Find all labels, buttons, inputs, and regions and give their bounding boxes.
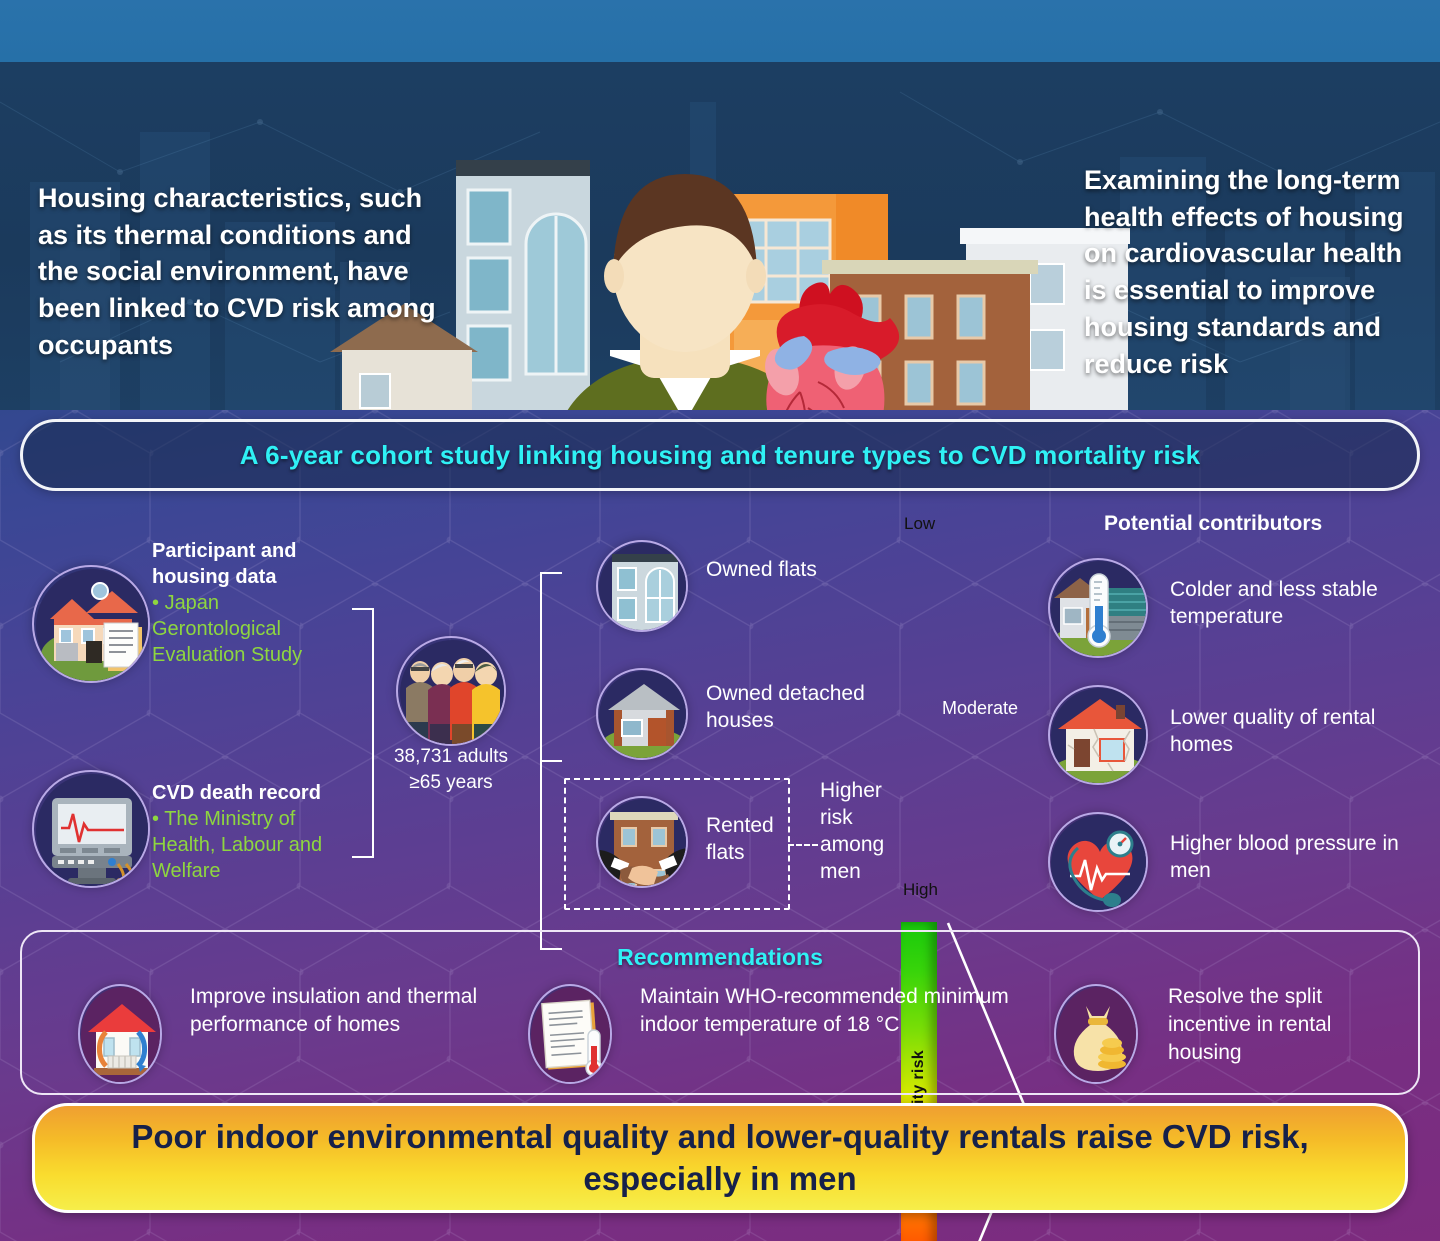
recommendation-label: Maintain WHO-recommended minimum indoor … [640,983,1010,1039]
cracked-house-icon [1048,685,1148,785]
contributor-label: Lower quality of rental homes [1170,704,1430,759]
housing-type-label: Owned flats [706,556,886,583]
housing-type-label: Owned detached houses [706,680,906,735]
highlight-connector [788,844,818,846]
ecg-monitor-icon [32,770,150,888]
contributor-label: Higher blood pressure in men [1170,830,1430,885]
key-message-text: Poor indoor environmental quality and lo… [35,1116,1405,1200]
housing-and-heart-illustration [330,124,1130,410]
infographic-page: Housing characteristics, such as its the… [0,0,1440,1241]
left-apartment-icon [456,160,590,410]
higher-risk-label: Higher risk among men [820,778,892,886]
source-item: The Ministry of Health, Labour and Welfa… [152,806,352,884]
source-block-cvd-death: CVD death record The Ministry of Health,… [152,780,352,884]
bracket-tick-mid [540,760,562,762]
source-heading: Participant and housing data [152,538,342,590]
contributor-label: Colder and less stable temperature [1170,576,1430,631]
house-thermometer-icon [1048,558,1148,658]
rented-flats-highlight-box [564,778,790,910]
document-thermometer-icon [528,984,612,1084]
source-bracket [352,608,374,858]
house-with-document-icon [32,565,150,683]
risk-scale-low-label: Low [904,514,935,534]
source-block-participant: Participant and housing data Japan Geron… [152,538,342,668]
study-title-banner: A 6-year cohort study linking housing an… [20,419,1420,491]
recommendation-label: Resolve the split incentive in rental ho… [1168,983,1398,1067]
population-count-line1: 38,731 adults [378,744,524,770]
hero-right-statement: Examining the long-term health effects o… [1084,162,1428,382]
source-item: Japan Gerontological Evaluation Study [152,590,342,668]
population-count: 38,731 adults ≥65 years [378,744,524,795]
risk-scale-moderate-label: Moderate [942,698,1018,719]
bracket-tick-top [540,572,562,574]
top-accent-strip [0,0,1440,62]
detached-house-icon [596,668,688,760]
key-message-banner: Poor indoor environmental quality and lo… [32,1103,1408,1213]
recommendation-label: Improve insulation and thermal performan… [190,983,480,1039]
hero-left-statement: Housing characteristics, such as its the… [38,180,438,364]
heart-blood-pressure-icon [1048,812,1148,912]
potential-contributors-title: Potential contributors [1104,512,1322,536]
money-bag-icon [1054,984,1138,1084]
recommendations-title: Recommendations [0,944,1440,971]
risk-scale-high-label: High [903,880,938,900]
older-adults-group-icon [396,636,506,746]
population-count-line2: ≥65 years [378,770,524,796]
apartment-building-icon [596,540,688,632]
source-heading: CVD death record [152,780,352,806]
hero-section: Housing characteristics, such as its the… [0,62,1440,410]
house-thermal-arrows-icon [78,984,162,1084]
study-title-text: A 6-year cohort study linking housing an… [240,440,1201,471]
